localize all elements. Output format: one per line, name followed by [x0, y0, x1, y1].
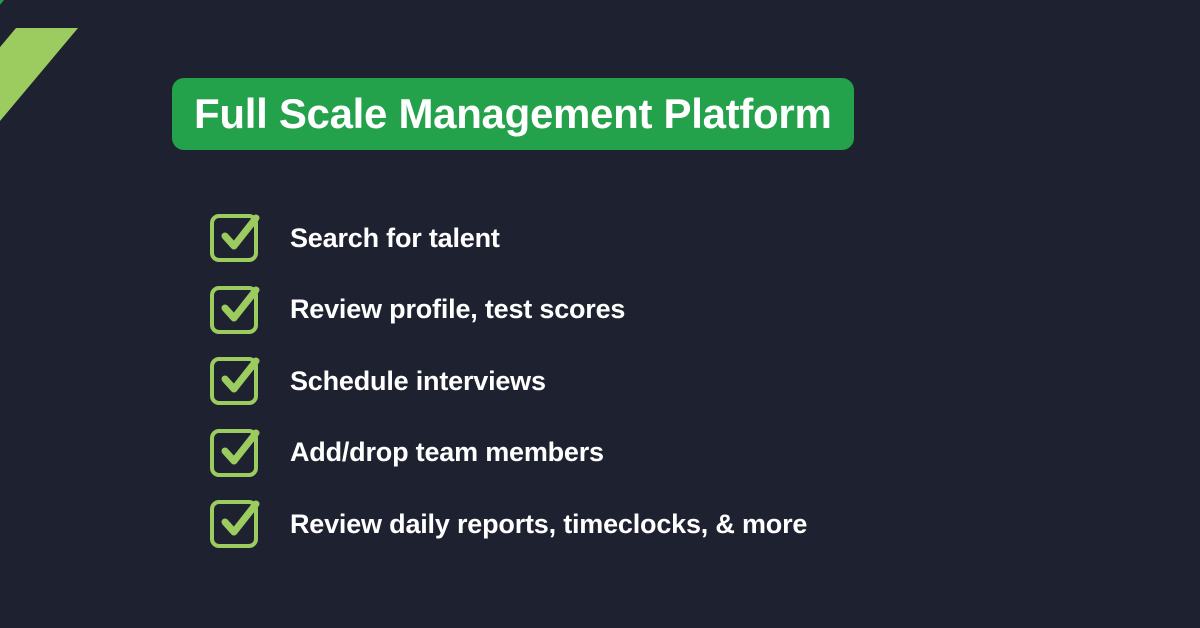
list-item-label: Review profile, test scores — [290, 296, 625, 323]
list-item-label: Review daily reports, timeclocks, & more — [290, 511, 807, 538]
brand-logo-mark — [0, 0, 200, 160]
list-item: Review profile, test scores — [210, 286, 807, 334]
check-square-icon — [210, 357, 258, 405]
list-item-label: Schedule interviews — [290, 368, 546, 395]
promo-card: Full Scale Management Platform Search fo… — [0, 0, 1200, 628]
check-square-icon — [210, 286, 258, 334]
check-square-icon — [210, 214, 258, 262]
logo-bar-light-green — [0, 28, 78, 146]
list-item: Add/drop team members — [210, 429, 807, 477]
feature-checklist: Search for talent Review profile, test s… — [210, 214, 807, 548]
check-square-icon — [210, 429, 258, 477]
list-item: Review daily reports, timeclocks, & more — [210, 500, 807, 548]
page-title-banner: Full Scale Management Platform — [172, 78, 854, 150]
list-item-label: Search for talent — [290, 225, 500, 252]
check-square-icon — [210, 500, 258, 548]
page-title: Full Scale Management Platform — [194, 93, 832, 135]
list-item: Search for talent — [210, 214, 807, 262]
list-item: Schedule interviews — [210, 357, 807, 405]
list-item-label: Add/drop team members — [290, 439, 604, 466]
